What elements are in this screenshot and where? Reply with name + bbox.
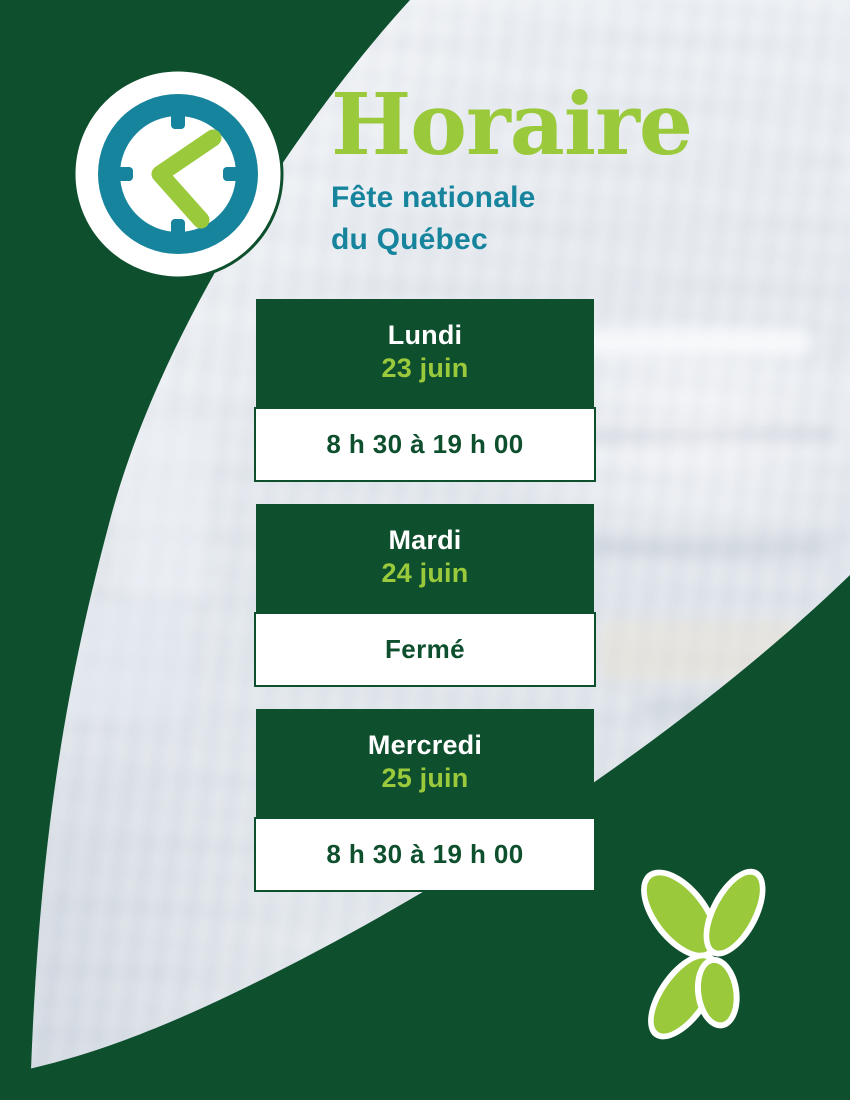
schedule-card-list: Lundi 23 juin 8 h 30 à 19 h 00 Mardi 24 … <box>256 299 594 914</box>
schedule-day-label: Lundi <box>266 319 584 352</box>
page-title: Horaire <box>331 84 751 167</box>
schedule-card-body: 8 h 30 à 19 h 00 <box>254 407 596 482</box>
schedule-date-label: 23 juin <box>266 352 584 385</box>
schedule-poster: Horaire Fête nationale du Québec Lundi 2… <box>0 0 850 1100</box>
butterfly-logo-icon <box>612 855 812 1055</box>
page-subtitle: Fête nationale du Québec <box>331 177 751 260</box>
clock-icon <box>72 68 284 280</box>
schedule-card-header: Mercredi 25 juin <box>256 709 594 817</box>
schedule-card: Mardi 24 juin Fermé <box>256 504 594 687</box>
schedule-date-label: 25 juin <box>266 762 584 795</box>
schedule-card: Lundi 23 juin 8 h 30 à 19 h 00 <box>256 299 594 482</box>
schedule-hours-label: 8 h 30 à 19 h 00 <box>264 429 586 460</box>
schedule-hours-label: Fermé <box>264 634 586 665</box>
poster-heading-block: Horaire Fête nationale du Québec <box>331 84 751 260</box>
schedule-day-label: Mardi <box>266 524 584 557</box>
schedule-card-body: Fermé <box>254 612 596 687</box>
page-subtitle-line-1: Fête nationale <box>331 177 751 218</box>
schedule-card: Mercredi 25 juin 8 h 30 à 19 h 00 <box>256 709 594 892</box>
schedule-card-body: 8 h 30 à 19 h 00 <box>254 817 596 892</box>
schedule-day-label: Mercredi <box>266 729 584 762</box>
page-subtitle-line-2: du Québec <box>331 219 751 260</box>
schedule-card-header: Lundi 23 juin <box>256 299 594 407</box>
schedule-date-label: 24 juin <box>266 557 584 590</box>
schedule-card-header: Mardi 24 juin <box>256 504 594 612</box>
schedule-hours-label: 8 h 30 à 19 h 00 <box>264 839 586 870</box>
